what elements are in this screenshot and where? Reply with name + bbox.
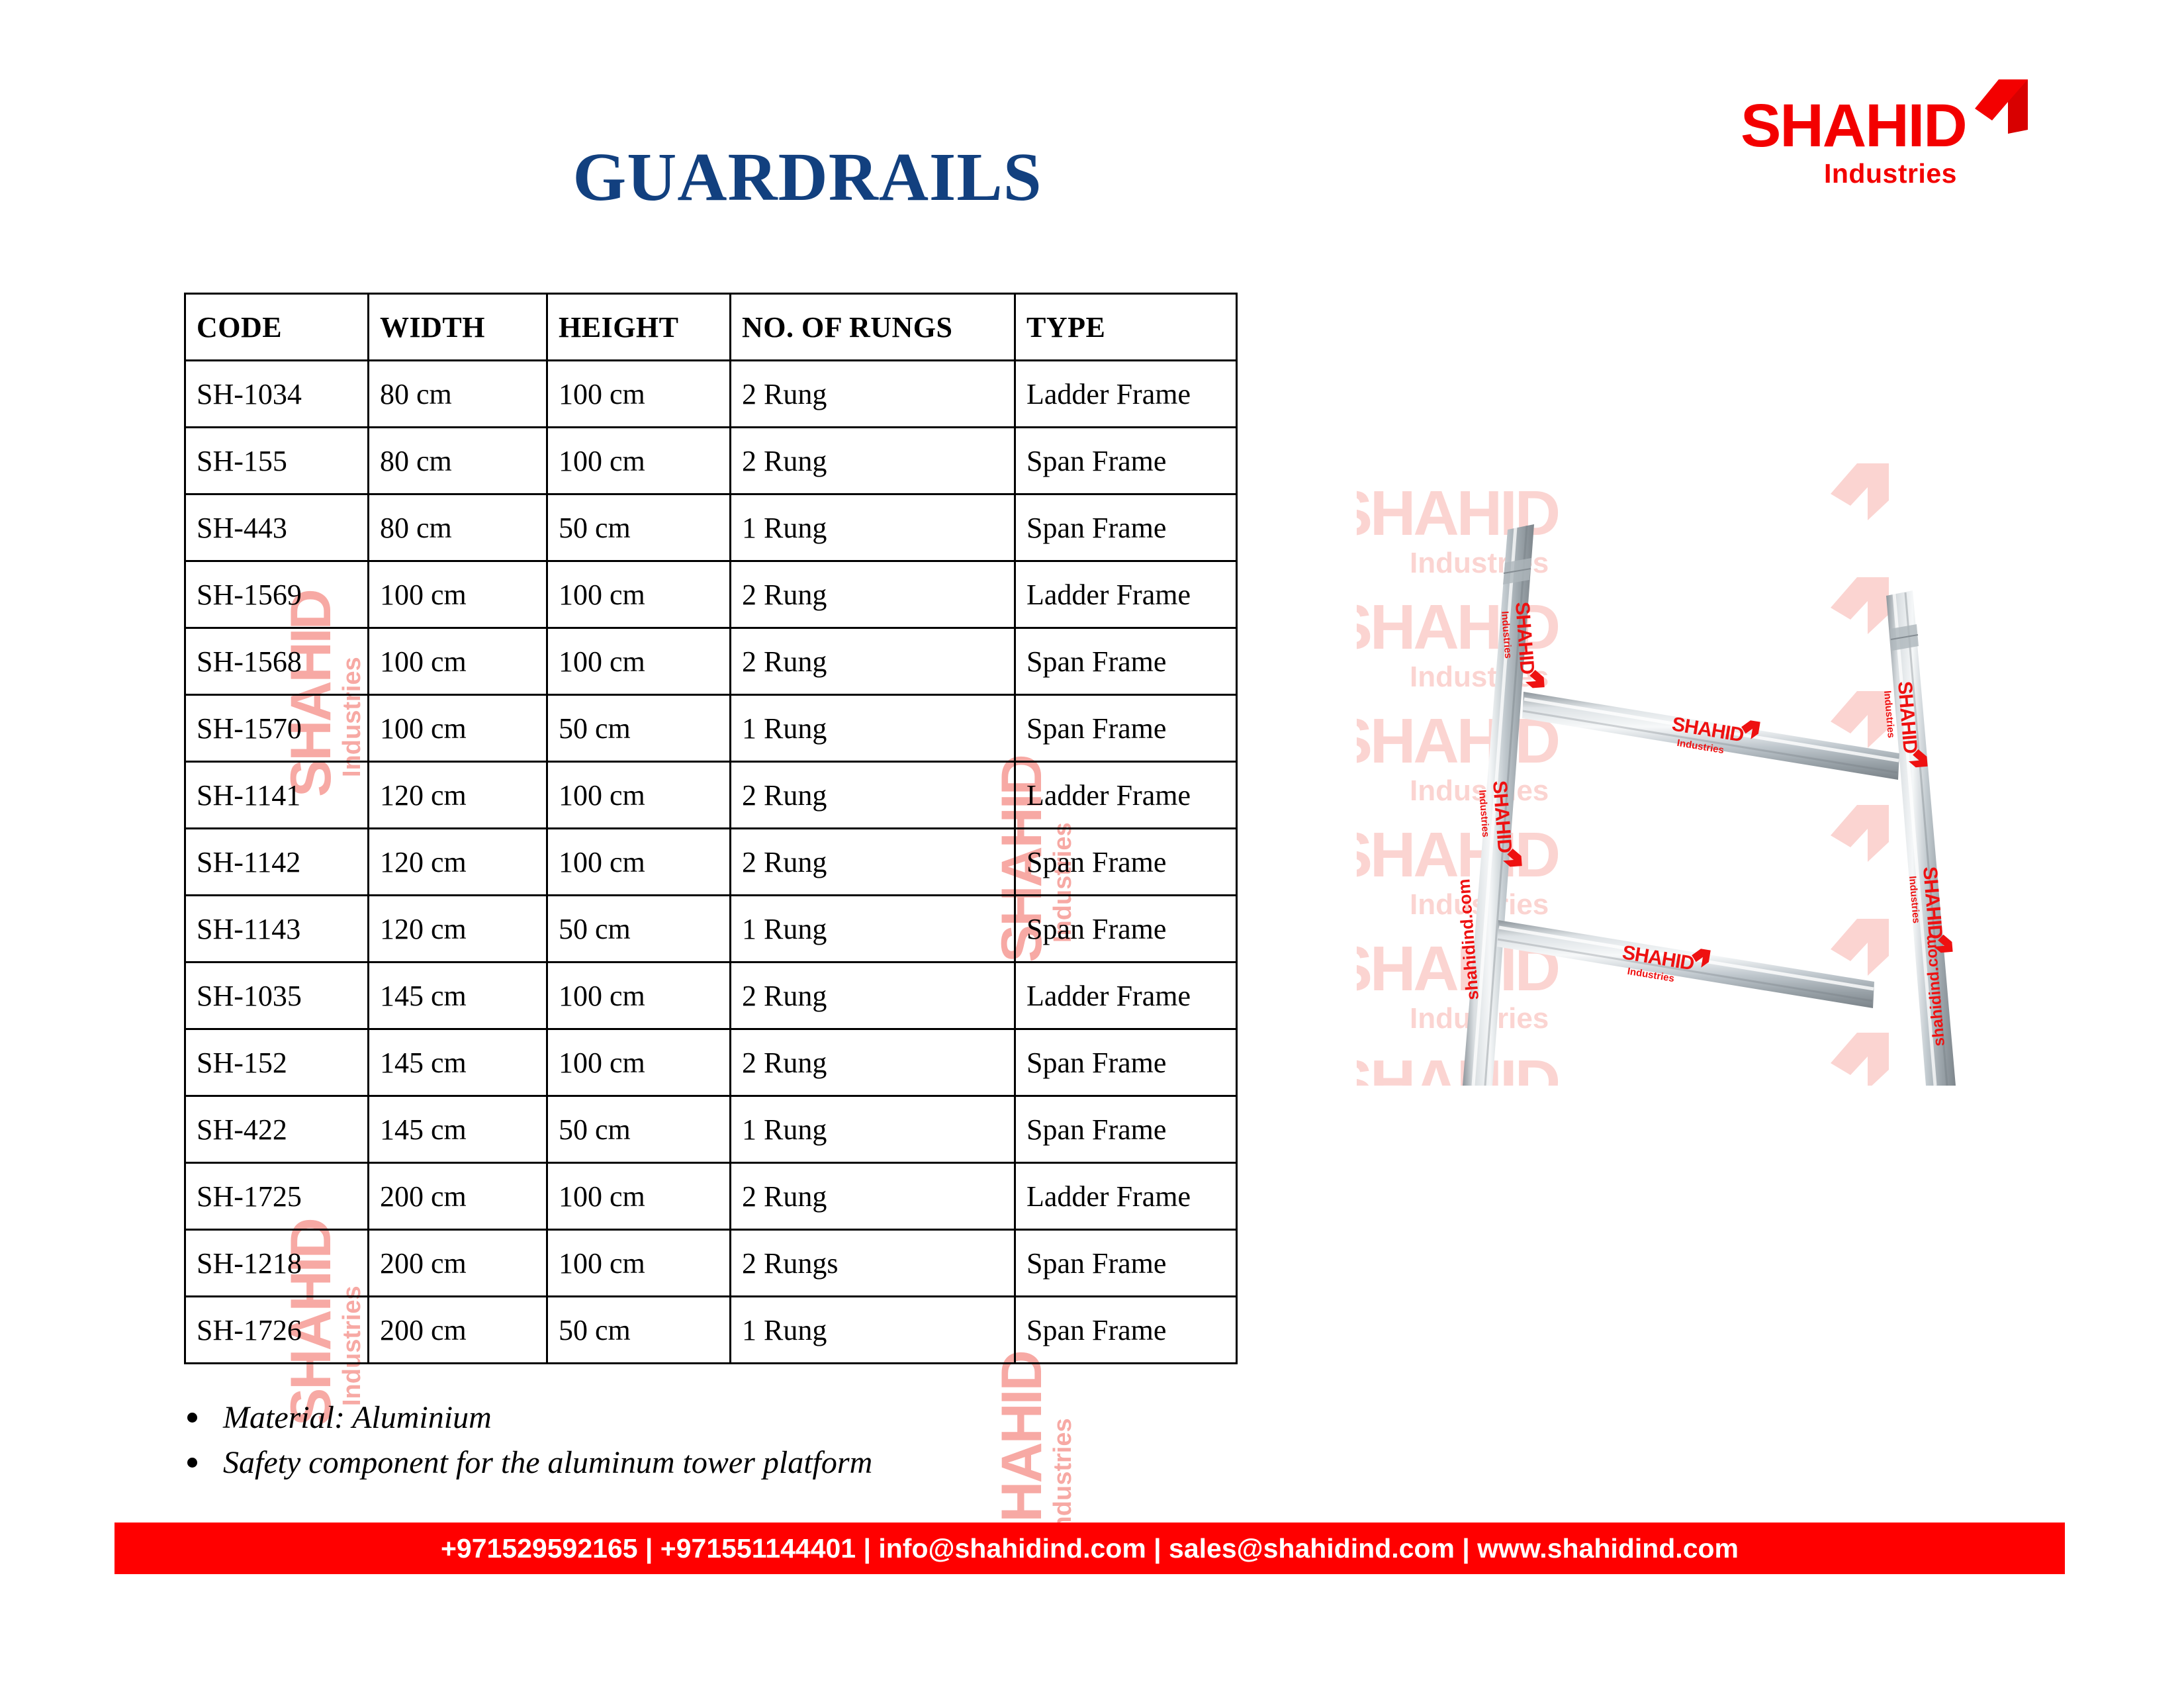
table-cell-height: 100 cm [547,561,731,628]
table-cell-type: Span Frame [1015,896,1237,962]
table-cell-height: 50 cm [547,1297,731,1364]
table-cell-width: 145 cm [369,1096,547,1163]
table-cell-code: SH-1569 [185,561,369,628]
table-cell-type: Span Frame [1015,494,1237,561]
company-logo: SHAHID Industries [1741,91,2019,197]
table-row: SH-422145 cm50 cm1 RungSpan Frame [185,1096,1237,1163]
list-item: Material: Aluminium [223,1395,872,1440]
contact-footer-text: +971529592165 | +971551144401 | info@sha… [114,1523,2065,1574]
table-cell-width: 200 cm [369,1230,547,1297]
page-canvas: GUARDRAILS SHAHID Industries SHAHID Indu… [0,0,2184,1688]
table-cell-height: 100 cm [547,1029,731,1096]
table-cell-code: SH-1726 [185,1297,369,1364]
table-cell-rungs: 2 Rung [731,628,1015,695]
table-cell-code: SH-1568 [185,628,369,695]
logo-tagline: Industries [1824,160,1957,187]
table-cell-code: SH-152 [185,1029,369,1096]
table-cell-height: 100 cm [547,829,731,896]
table-cell-rungs: 2 Rung [731,962,1015,1029]
table-cell-rungs: 2 Rung [731,829,1015,896]
table-cell-rungs: 1 Rung [731,695,1015,762]
table-row: SH-1035145 cm100 cm2 RungLadder Frame [185,962,1237,1029]
column-header-rungs: NO. OF RUNGS [731,294,1015,361]
table-cell-height: 100 cm [547,361,731,428]
table-cell-type: Ladder Frame [1015,1163,1237,1230]
note-text: Material: Aluminium [223,1400,492,1435]
notes-list: Material: AluminiumSafety component for … [175,1395,872,1485]
page-title: GUARDRAILS [0,138,1615,216]
table-cell-code: SH-1141 [185,762,369,829]
table-cell-rungs: 2 Rung [731,1163,1015,1230]
table-cell-code: SH-443 [185,494,369,561]
table-cell-type: Ladder Frame [1015,561,1237,628]
table-cell-height: 100 cm [547,628,731,695]
table-cell-height: 100 cm [547,1163,731,1230]
table-cell-rungs: 2 Rung [731,561,1015,628]
table-cell-height: 50 cm [547,1096,731,1163]
table-row: SH-15580 cm100 cm2 RungSpan Frame [185,428,1237,494]
notes-list-container: Material: AluminiumSafety component for … [175,1395,872,1485]
table-cell-type: Span Frame [1015,1230,1237,1297]
table-cell-width: 80 cm [369,428,547,494]
table-cell-width: 200 cm [369,1297,547,1364]
table-cell-width: 100 cm [369,628,547,695]
table-row: SH-1726200 cm50 cm1 RungSpan Frame [185,1297,1237,1364]
table-cell-type: Span Frame [1015,829,1237,896]
bullet-dot-icon [187,1458,197,1468]
column-header-height: HEIGHT [547,294,731,361]
table-cell-width: 200 cm [369,1163,547,1230]
table-cell-width: 100 cm [369,695,547,762]
table-cell-width: 80 cm [369,361,547,428]
column-header-type: TYPE [1015,294,1237,361]
table-cell-type: Span Frame [1015,628,1237,695]
logo-arrow-icon [1964,75,2030,144]
table-cell-width: 145 cm [369,1029,547,1096]
table-cell-height: 100 cm [547,428,731,494]
table-cell-rungs: 2 Rungs [731,1230,1015,1297]
table-cell-code: SH-422 [185,1096,369,1163]
column-header-code: CODE [185,294,369,361]
table-row: SH-103480 cm100 cm2 RungLadder Frame [185,361,1237,428]
note-text: Safety component for the aluminum tower … [223,1445,872,1480]
table-cell-code: SH-1725 [185,1163,369,1230]
table-row: SH-44380 cm50 cm1 RungSpan Frame [185,494,1237,561]
table-cell-code: SH-1142 [185,829,369,896]
table-header-row: CODE WIDTH HEIGHT NO. OF RUNGS TYPE [185,294,1237,361]
table-cell-rungs: 2 Rung [731,428,1015,494]
table-cell-code: SH-1035 [185,962,369,1029]
table-cell-width: 120 cm [369,762,547,829]
table-row: SH-1141120 cm100 cm2 RungLadder Frame [185,762,1237,829]
table-cell-type: Span Frame [1015,1297,1237,1364]
table-cell-width: 145 cm [369,962,547,1029]
table-cell-rungs: 2 Rung [731,1029,1015,1096]
table-row: SH-1142120 cm100 cm2 RungSpan Frame [185,829,1237,896]
table-cell-height: 100 cm [547,1230,731,1297]
table-cell-code: SH-1218 [185,1230,369,1297]
table-cell-height: 50 cm [547,695,731,762]
table-cell-type: Ladder Frame [1015,962,1237,1029]
table-cell-rungs: 1 Rung [731,494,1015,561]
table-cell-code: SH-1143 [185,896,369,962]
table-cell-code: SH-1034 [185,361,369,428]
table-cell-type: Span Frame [1015,428,1237,494]
table-row: SH-1143120 cm50 cm1 RungSpan Frame [185,896,1237,962]
list-item: Safety component for the aluminum tower … [223,1440,872,1485]
table-cell-type: Span Frame [1015,1096,1237,1163]
table-cell-width: 120 cm [369,829,547,896]
table-cell-height: 100 cm [547,962,731,1029]
table-row: SH-1218200 cm100 cm2 RungsSpan Frame [185,1230,1237,1297]
table-cell-code: SH-155 [185,428,369,494]
table-cell-height: 100 cm [547,762,731,829]
table-row: SH-1569100 cm100 cm2 RungLadder Frame [185,561,1237,628]
table-cell-rungs: 1 Rung [731,1096,1015,1163]
table-row: SH-1725200 cm100 cm2 RungLadder Frame [185,1163,1237,1230]
table-cell-rungs: 1 Rung [731,896,1015,962]
product-image: SHAHID Industries SHAHID Industries SHAH… [1357,463,2052,1086]
table-cell-rungs: 1 Rung [731,1297,1015,1364]
table-cell-height: 50 cm [547,896,731,962]
table-cell-width: 80 cm [369,494,547,561]
table-row: SH-1570100 cm50 cm1 RungSpan Frame [185,695,1237,762]
table-row: SH-1568100 cm100 cm2 RungSpan Frame [185,628,1237,695]
spec-table-container: CODE WIDTH HEIGHT NO. OF RUNGS TYPE SH-1… [184,293,1120,1364]
table-cell-code: SH-1570 [185,695,369,762]
table-cell-type: Ladder Frame [1015,361,1237,428]
column-header-width: WIDTH [369,294,547,361]
guardrails-spec-table: CODE WIDTH HEIGHT NO. OF RUNGS TYPE SH-1… [184,293,1238,1364]
table-cell-type: Span Frame [1015,695,1237,762]
ladder-frame-illustration: SHAHID Industries SHAHID Industries shah… [1357,463,2052,1086]
table-cell-width: 100 cm [369,561,547,628]
table-cell-type: Span Frame [1015,1029,1237,1096]
logo-wordmark: SHAHID [1741,95,1966,156]
watermark-sub: Industries [1050,1352,1076,1538]
table-cell-rungs: 2 Rung [731,361,1015,428]
bullet-dot-icon [187,1413,197,1423]
contact-footer-bar: +971529592165 | +971551144401 | info@sha… [114,1523,2065,1574]
table-cell-width: 120 cm [369,896,547,962]
table-cell-height: 50 cm [547,494,731,561]
table-row: SH-152145 cm100 cm2 RungSpan Frame [185,1029,1237,1096]
table-cell-type: Ladder Frame [1015,762,1237,829]
table-cell-rungs: 2 Rung [731,762,1015,829]
